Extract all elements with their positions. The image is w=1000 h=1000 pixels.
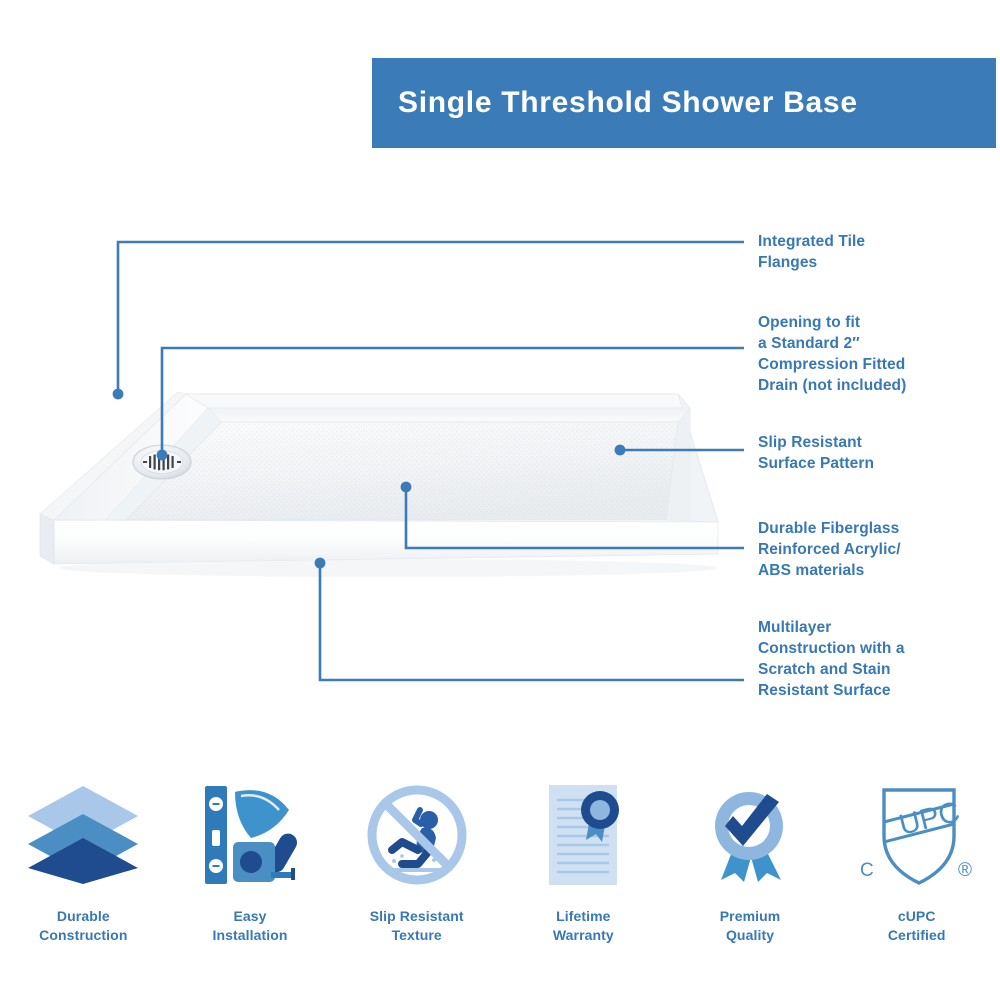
feature-label: Slip Resistant Texture — [370, 907, 464, 945]
feature-easy-installation: Easy Installation — [167, 775, 334, 975]
feature-strip: Durable Construction — [0, 775, 1000, 975]
upc-prefix-c: C — [860, 860, 874, 881]
callout-label-integrated-tile-flanges: Integrated Tile Flanges — [758, 231, 865, 273]
no-slip-person-icon — [358, 775, 476, 895]
feature-label: Durable Construction — [39, 907, 127, 945]
callout-label-drain-opening: Opening to fit a Standard 2″ Compression… — [758, 312, 906, 396]
feature-premium-quality: Premium Quality — [667, 775, 834, 975]
layered-diamonds-icon — [24, 775, 142, 895]
upc-shield-icon: UPC C ® — [858, 775, 976, 895]
page-title: Single Threshold Shower Base — [372, 86, 858, 120]
callout-label-durable-materials: Durable Fiberglass Reinforced Acrylic/ A… — [758, 518, 901, 581]
product-illustration — [18, 368, 738, 598]
feature-label: Premium Quality — [720, 907, 781, 945]
feature-label: Easy Installation — [212, 907, 287, 945]
shower-base-drawing — [18, 368, 738, 598]
level-trowel-tape-icon — [191, 775, 309, 895]
certificate-rosette-icon — [524, 775, 642, 895]
title-banner: Single Threshold Shower Base — [372, 58, 996, 148]
product-infographic: Single Threshold Shower Base — [0, 0, 1000, 1000]
callout-label-multilayer-construction: Multilayer Construction with a Scratch a… — [758, 617, 905, 701]
checkmark-rosette-icon — [691, 775, 809, 895]
drain-grate-icon — [133, 445, 191, 479]
feature-cupc-certified: UPC C ® cUPC Certified — [833, 775, 1000, 975]
feature-label: Lifetime Warranty — [553, 907, 614, 945]
feature-durable-construction: Durable Construction — [0, 775, 167, 975]
callout-label-slip-resistant-surface: Slip Resistant Surface Pattern — [758, 432, 874, 474]
feature-label: cUPC Certified — [888, 907, 946, 945]
feature-slip-resistant-texture: Slip Resistant Texture — [333, 775, 500, 975]
upc-registered-mark: ® — [958, 860, 972, 881]
feature-lifetime-warranty: Lifetime Warranty — [500, 775, 667, 975]
